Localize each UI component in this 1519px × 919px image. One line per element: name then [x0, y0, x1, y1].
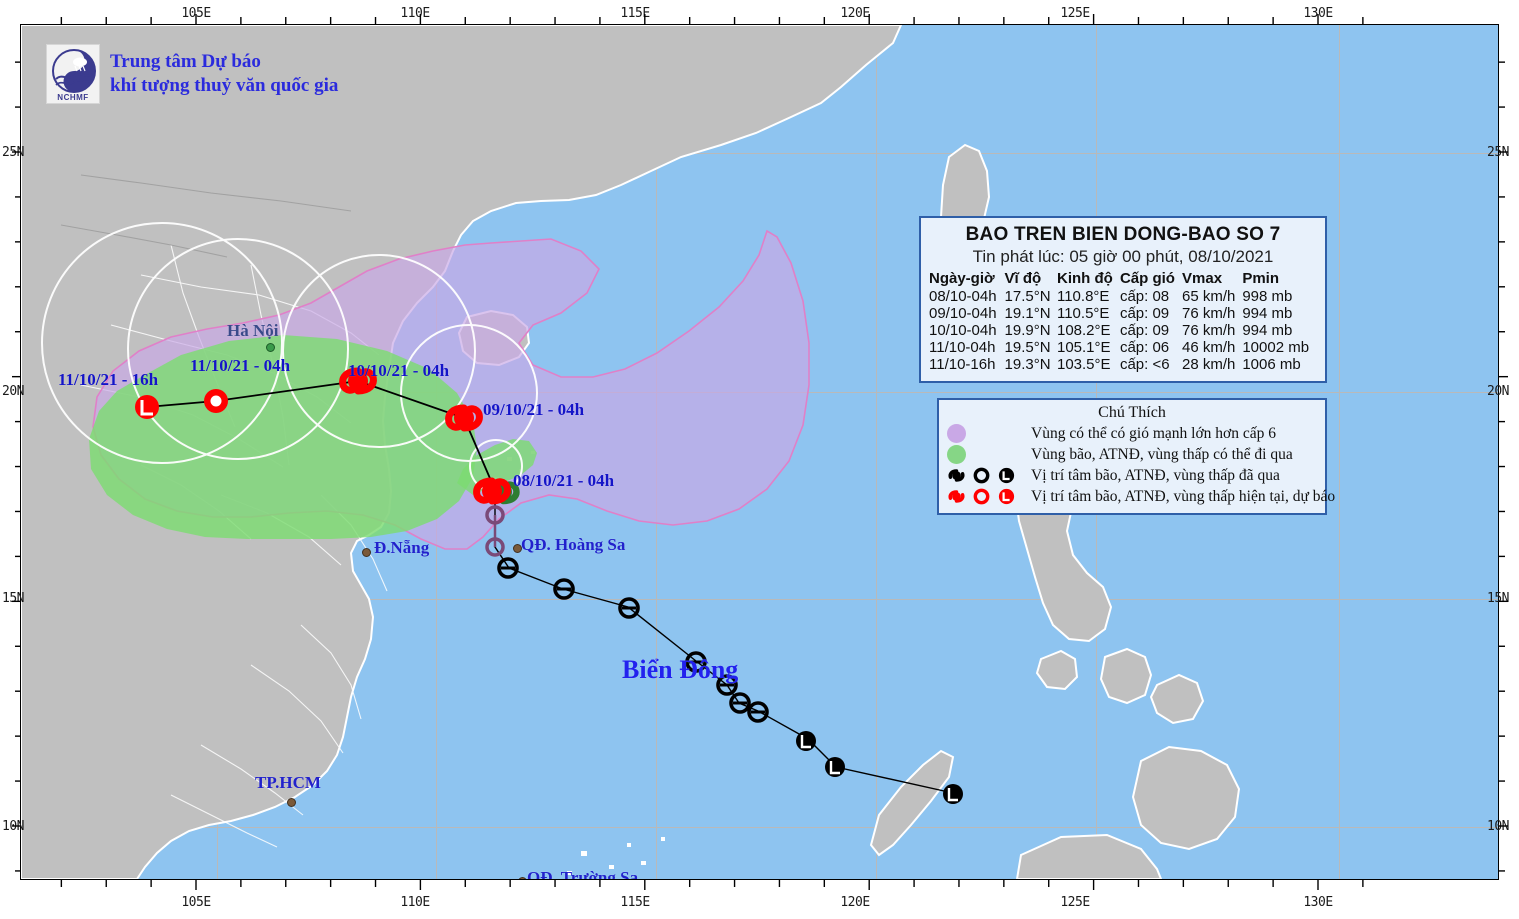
nchmf-logo-icon: NCHMF [46, 44, 100, 104]
forecast-cell-2-1: 19.9°N [1005, 322, 1057, 339]
forecast-cell-0-2: 110.8°E [1057, 288, 1120, 305]
forecast-row: 08/10-04h17.5°N110.8°Ecấp: 0865 km/h998 … [929, 288, 1317, 305]
legend-item-1: Vùng bão, ATNĐ, vùng thấp có thể đi qua [947, 444, 1317, 465]
lon-label-115E: 115E [620, 6, 649, 21]
forecast-cell-4-2: 103.5°E [1057, 356, 1120, 373]
legend-label-1: Vùng bão, ATNĐ, vùng thấp có thể đi qua [1031, 446, 1293, 464]
lon-label-bottom-125E: 125E [1060, 895, 1089, 910]
city-label-da-nang: Đ.Nẵng [374, 538, 429, 558]
agency-name: Trung tâm Dự báo khí tượng thuỷ văn quốc… [110, 50, 338, 98]
logo-caption: NCHMF [47, 93, 99, 102]
forecast-col-2: Kinh độ [1057, 270, 1120, 288]
forecast-label-10-10: 10/10/21 - 04h [348, 361, 449, 381]
legend-item-0: Vùng có thể có gió mạnh lớn hơn cấp 6 [947, 423, 1317, 444]
lon-label-bottom-120E: 120E [840, 895, 869, 910]
danang-dot [362, 548, 371, 557]
forecast-cell-3-1: 19.5°N [1005, 339, 1057, 356]
forecast-cell-0-3: cấp: 08 [1120, 288, 1182, 305]
forecast-table: Ngày-giờVĩ độKinh độCấp gióVmaxPmin 08/1… [929, 270, 1317, 373]
forecast-cell-4-3: cấp: <6 [1120, 356, 1182, 373]
forecast-row: 11/10-16h19.3°N103.5°Ecấp: <628 km/h1006… [929, 356, 1317, 373]
forecast-cell-1-0: 09/10-04h [929, 305, 1005, 322]
truong-sa-dot [518, 877, 527, 880]
forecast-cell-3-4: 46 km/h [1182, 339, 1242, 356]
legend-rows: Vùng có thể có gió mạnh lớn hơn cấp 6Vùn… [947, 423, 1317, 507]
forecast-cell-3-0: 11/10-04h [929, 339, 1005, 356]
legend-symbols-2 [947, 466, 1023, 485]
forecast-col-1: Vĩ độ [1005, 270, 1057, 288]
forecast-cell-1-4: 76 km/h [1182, 305, 1242, 322]
legend-panel: Chú Thích Vùng có thể có gió mạnh lớn hơ… [937, 398, 1327, 515]
forecast-col-4: Vmax [1182, 270, 1242, 288]
forecast-label-08-10: 08/10/21 - 04h [513, 471, 614, 491]
forecast-label-11-10-04h: 11/10/21 - 04h [190, 356, 290, 376]
lon-label-bottom-115E: 115E [620, 895, 649, 910]
forecast-table-body: 08/10-04h17.5°N110.8°Ecấp: 0865 km/h998 … [929, 288, 1317, 373]
forecast-cell-2-3: cấp: 09 [1120, 322, 1182, 339]
red-low-icon [997, 487, 1016, 506]
forecast-cell-2-5: 994 mb [1242, 322, 1317, 339]
forecast-col-0: Ngày-giờ [929, 270, 1005, 288]
legend-symbols-3 [947, 487, 1023, 506]
lon-label-125E: 125E [1060, 6, 1089, 21]
lat-label-right-25N: 25N [1487, 145, 1509, 160]
city-label-ha-noi: Hà Nội [227, 321, 278, 341]
forecast-cell-0-1: 17.5°N [1005, 288, 1057, 305]
forecast-cell-3-5: 10002 mb [1242, 339, 1317, 356]
legend-label-2: Vị trí tâm bão, ATNĐ, vùng thấp đã qua [1031, 467, 1280, 485]
black-typhoon-icon [947, 466, 966, 485]
island-label-truong-sa: QĐ. Trường Sa [527, 868, 638, 880]
storm-info-subtitle: Tin phát lúc: 05 giờ 00 phút, 08/10/2021 [929, 247, 1317, 267]
forecast-cell-0-5: 998 mb [1242, 288, 1317, 305]
legend-item-2: Vị trí tâm bão, ATNĐ, vùng thấp đã qua [947, 465, 1317, 486]
legend-symbols-1 [947, 445, 1023, 464]
lat-label-15N: 15N [2, 591, 24, 606]
marker-11-10-16h-low [135, 395, 159, 419]
forecast-cell-1-3: cấp: 09 [1120, 305, 1182, 322]
lon-label-bottom-130E: 130E [1303, 895, 1332, 910]
black-low-icon [997, 466, 1016, 485]
forecast-col-3: Cấp gió [1120, 270, 1182, 288]
forecast-cell-3-3: cấp: 06 [1120, 339, 1182, 356]
forecast-cell-4-1: 19.3°N [1005, 356, 1057, 373]
forecast-row: 10/10-04h19.9°N108.2°Ecấp: 0976 km/h994 … [929, 322, 1317, 339]
legend-label-3: Vị trí tâm bão, ATNĐ, vùng thấp hiện tại… [1031, 488, 1335, 506]
marker-11-10-04h-ring [204, 389, 228, 413]
forecast-cell-4-4: 28 km/h [1182, 356, 1242, 373]
lon-label-120E: 120E [840, 6, 869, 21]
marker-09-10-typhoon [449, 408, 480, 428]
forecast-cell-3-2: 105.1°E [1057, 339, 1120, 356]
forecast-cell-2-2: 108.2°E [1057, 322, 1120, 339]
legend-title: Chú Thích [947, 404, 1317, 422]
forecast-cell-1-2: 110.5°E [1057, 305, 1120, 322]
lon-label-105E: 105E [181, 6, 210, 21]
forecast-label-11-10-16h: 11/10/21 - 16h [58, 370, 158, 390]
forecast-row: 11/10-04h19.5°N105.1°Ecấp: 0646 km/h1000… [929, 339, 1317, 356]
forecast-cell-0-4: 65 km/h [1182, 288, 1242, 305]
forecast-row: 09/10-04h19.1°N110.5°Ecấp: 0976 km/h994 … [929, 305, 1317, 322]
forecast-label-09-10: 09/10/21 - 04h [483, 400, 584, 420]
legend-label-0: Vùng có thể có gió mạnh lớn hơn cấp 6 [1031, 425, 1276, 443]
marker-current-position [477, 481, 517, 501]
lat-label-10N: 10N [2, 819, 24, 834]
lon-label-130E: 130E [1303, 6, 1332, 21]
forecast-cell-2-0: 10/10-04h [929, 322, 1005, 339]
lat-label-right-10N: 10N [1487, 819, 1509, 834]
storm-info-title: BAO TREN BIEN DONG-BAO SO 7 [929, 224, 1317, 246]
red-ring-icon [972, 487, 991, 506]
forecast-cell-0-0: 08/10-04h [929, 288, 1005, 305]
agency-header: NCHMF Trung tâm Dự báo khí tượng thuỷ vă… [46, 44, 338, 104]
city-label-tp-hcm: TP.HCM [255, 773, 321, 793]
forecast-cell-4-5: 1006 mb [1242, 356, 1317, 373]
black-ring-icon [972, 466, 991, 485]
lat-label-20N: 20N [2, 384, 24, 399]
lat-label-right-20N: 20N [1487, 384, 1509, 399]
green-disc-icon [947, 445, 966, 464]
tphcm-dot [287, 798, 296, 807]
lon-label-bottom-110E: 110E [400, 895, 429, 910]
forecast-table-header: Ngày-giờVĩ độKinh độCấp gióVmaxPmin [929, 270, 1317, 288]
forecast-cell-2-4: 76 km/h [1182, 322, 1242, 339]
typhoon-forecast-map: 10/10/21 - 04h 09/10/21 - 04h 08/10/21 -… [0, 0, 1519, 919]
red-typhoon-icon [947, 487, 966, 506]
forecast-cell-1-5: 994 mb [1242, 305, 1317, 322]
forecast-cell-1-1: 19.1°N [1005, 305, 1057, 322]
purple-disc-icon [947, 424, 966, 443]
forecast-cell-4-0: 11/10-16h [929, 356, 1005, 373]
hanoi-dot [266, 343, 275, 352]
lat-label-25N: 25N [2, 145, 24, 160]
island-label-hoang-sa: QĐ. Hoàng Sa [521, 535, 625, 555]
forecast-col-5: Pmin [1242, 270, 1317, 288]
lon-label-bottom-105E: 105E [181, 895, 210, 910]
storm-info-panel: BAO TREN BIEN DONG-BAO SO 7 Tin phát lúc… [919, 216, 1327, 383]
sea-label-bien-dong: Biển Đông [622, 655, 738, 685]
legend-item-3: Vị trí tâm bão, ATNĐ, vùng thấp hiện tại… [947, 486, 1317, 507]
agency-name-line2: khí tượng thuỷ văn quốc gia [110, 74, 338, 98]
lat-label-right-15N: 15N [1487, 591, 1509, 606]
legend-symbols-0 [947, 424, 1023, 443]
lon-label-110E: 110E [400, 6, 429, 21]
agency-name-line1: Trung tâm Dự báo [110, 50, 338, 74]
